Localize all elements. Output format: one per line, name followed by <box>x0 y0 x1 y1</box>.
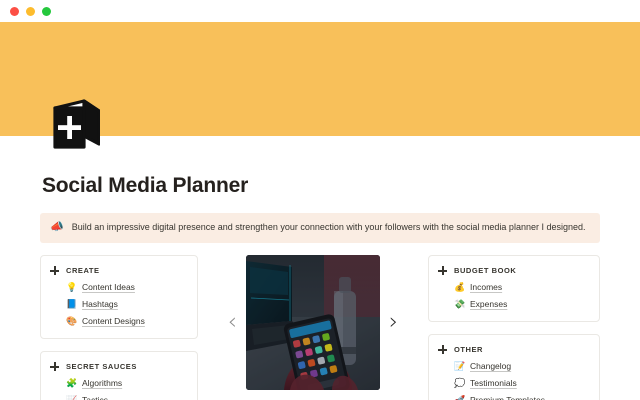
toggle-card-header[interactable]: OTHER <box>438 345 589 354</box>
list-item[interactable]: 💸 Expenses <box>454 298 589 310</box>
right-column: BUDGET BOOK 💰 Incomes 💸 Expenses <box>428 255 600 400</box>
money-bag-icon: 💰 <box>454 281 465 293</box>
memo-icon: 📝 <box>454 360 465 372</box>
list-item-label[interactable]: Expenses <box>470 298 507 310</box>
artist-palette-icon: 🎨 <box>66 315 77 327</box>
list-item[interactable]: 💰 Incomes <box>454 281 589 293</box>
toggle-card-items: 💡 Content Ideas 📘 Hashtags 🎨 Content Des… <box>50 281 187 327</box>
list-item-label[interactable]: Tactics <box>82 394 108 400</box>
list-item[interactable]: 🚀 Premium Templates <box>454 394 589 400</box>
page-content: Social Media Planner 📣 Build an impressi… <box>0 158 640 400</box>
close-window-button[interactable] <box>10 7 19 16</box>
list-item[interactable]: 🧩 Algorithms <box>66 377 187 389</box>
list-item-label[interactable]: Premium Templates <box>470 394 545 400</box>
chart-increasing-icon: 📈 <box>66 394 77 400</box>
black-cube-plus-icon[interactable] <box>50 98 100 150</box>
list-item-label[interactable]: Testimonials <box>470 377 517 389</box>
carousel-next-icon[interactable]: › <box>386 309 401 336</box>
list-item[interactable]: 💭 Testimonials <box>454 377 589 389</box>
toggle-card-items: 🧩 Algorithms 📈 Tactics ⏰ Sharing Hours <box>50 377 187 400</box>
list-item-label[interactable]: Content Ideas <box>82 281 135 293</box>
list-item-label[interactable]: Hashtags <box>82 298 118 310</box>
toggle-card-header[interactable]: SECRET SAUCES <box>50 362 187 371</box>
list-item-label[interactable]: Algorithms <box>82 377 122 389</box>
plus-icon[interactable] <box>50 362 59 371</box>
list-item[interactable]: 💡 Content Ideas <box>66 281 187 293</box>
rocket-icon: 🚀 <box>454 394 465 400</box>
list-item-label[interactable]: Content Designs <box>82 315 145 327</box>
lightbulb-icon: 💡 <box>66 281 77 293</box>
list-item[interactable]: 📈 Tactics <box>66 394 187 400</box>
toggle-card-header[interactable]: CREATE <box>50 266 187 275</box>
window-title-bar <box>0 0 640 22</box>
callout-text: Build an impressive digital presence and… <box>72 221 586 234</box>
minimize-window-button[interactable] <box>26 7 35 16</box>
list-item-label[interactable]: Incomes <box>470 281 502 293</box>
list-item[interactable]: 📘 Hashtags <box>66 298 187 310</box>
megaphone-icon: 📣 <box>50 221 64 234</box>
toggle-card-secret-sauces[interactable]: SECRET SAUCES 🧩 Algorithms 📈 Tactics ⏰ <box>40 351 198 400</box>
toggle-card-title: BUDGET BOOK <box>454 266 516 275</box>
toggle-card-items: 📝 Changelog 💭 Testimonials 🚀 Premium Tem… <box>438 360 589 400</box>
list-item[interactable]: 🎨 Content Designs <box>66 315 187 327</box>
toggle-card-items: 💰 Incomes 💸 Expenses <box>438 281 589 310</box>
columns-layout: CREATE 💡 Content Ideas 📘 Hashtags 🎨 <box>40 255 600 400</box>
middle-column: ‹ <box>198 255 428 390</box>
maximize-window-button[interactable] <box>42 7 51 16</box>
plus-icon[interactable] <box>50 266 59 275</box>
traffic-lights <box>10 7 51 16</box>
toggle-card-title: CREATE <box>66 266 100 275</box>
carousel-prev-icon[interactable]: ‹ <box>225 309 240 336</box>
left-column: CREATE 💡 Content Ideas 📘 Hashtags 🎨 <box>40 255 198 400</box>
plus-icon[interactable] <box>438 345 447 354</box>
thought-balloon-icon: 💭 <box>454 377 465 389</box>
list-item[interactable]: 📝 Changelog <box>454 360 589 372</box>
image-carousel: ‹ <box>204 255 422 390</box>
notion-page: Social Media Planner 📣 Build an impressi… <box>0 22 640 400</box>
toggle-card-budget-book[interactable]: BUDGET BOOK 💰 Incomes 💸 Expenses <box>428 255 600 322</box>
toggle-card-title: OTHER <box>454 345 483 354</box>
toggle-card-title: SECRET SAUCES <box>66 362 137 371</box>
puzzle-piece-icon: 🧩 <box>66 377 77 389</box>
toggle-card-header[interactable]: BUDGET BOOK <box>438 266 589 275</box>
toggle-card-create[interactable]: CREATE 💡 Content Ideas 📘 Hashtags 🎨 <box>40 255 198 339</box>
page-title: Social Media Planner <box>42 174 600 198</box>
toggle-card-other[interactable]: OTHER 📝 Changelog 💭 Testimonials 🚀 <box>428 334 600 400</box>
plus-icon[interactable] <box>438 266 447 275</box>
money-with-wings-icon: 💸 <box>454 298 465 310</box>
carousel-image[interactable] <box>246 255 380 390</box>
blue-book-icon: 📘 <box>66 298 77 310</box>
callout-block: 📣 Build an impressive digital presence a… <box>40 213 600 243</box>
list-item-label[interactable]: Changelog <box>470 360 511 372</box>
